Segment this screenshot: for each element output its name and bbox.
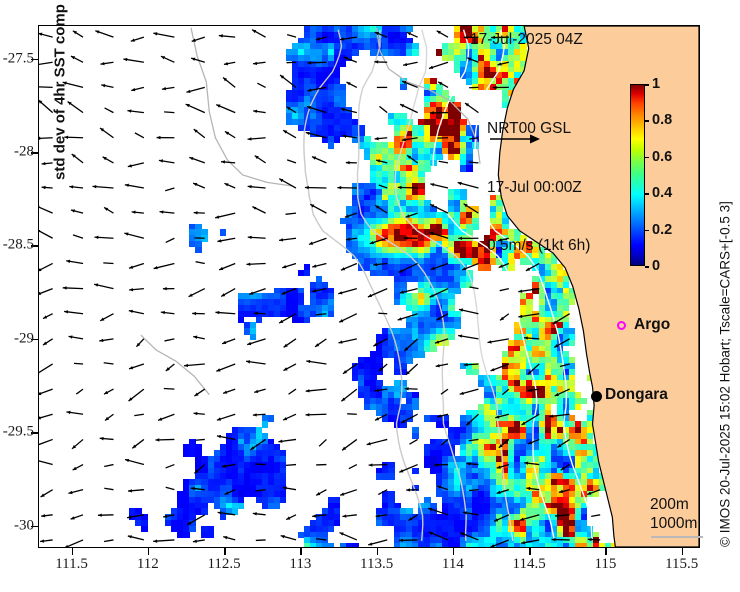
reference-arrow xyxy=(488,131,548,147)
colorbar-tickmark xyxy=(645,84,649,86)
credit-line: © IMOS 20-Jul-2025 15:02 Hobart; Tscale=… xyxy=(718,201,733,547)
x-tickmark xyxy=(453,548,455,555)
y-tick-label: -29.5 xyxy=(3,424,34,441)
x-tickmark xyxy=(377,548,379,555)
x-tick-label: 112 xyxy=(137,556,159,573)
map-plot-area xyxy=(38,25,700,548)
vector-scale-label: 0.5m/s (1kt 6h) xyxy=(487,236,590,256)
depth-1000-label: 1000m xyxy=(650,514,697,533)
colorbar-tickmark xyxy=(645,120,649,122)
colorbar-tick-label: 0.2 xyxy=(652,222,672,238)
dongara-marker-icon xyxy=(591,391,602,402)
colorbar-tick-label: 0.8 xyxy=(652,112,672,128)
colorbar-tick-label: 0.6 xyxy=(652,149,672,165)
argo-label: Argo xyxy=(634,316,670,334)
land-mass-polygon xyxy=(39,26,699,547)
model-time-label: 17-Jul 00:00Z xyxy=(487,178,590,198)
colorbar-gradient xyxy=(630,84,645,266)
colorbar-title: std dev of 4hr SST comp xyxy=(52,4,69,180)
x-tickmark xyxy=(148,548,150,555)
x-tickmark xyxy=(605,548,607,555)
colorbar-tick-label: 0 xyxy=(652,258,660,274)
datestamp-label: 17-Jul-2025 04Z xyxy=(470,31,583,49)
argo-marker-icon xyxy=(617,321,626,330)
y-tick-label: -30 xyxy=(14,517,34,534)
colorbar-tick-label: 0.4 xyxy=(652,185,672,201)
x-tick-label: 113.5 xyxy=(360,556,393,573)
x-tickmark xyxy=(72,548,74,555)
depth-contour-sample-line xyxy=(651,536,703,538)
x-tick-label: 114.5 xyxy=(513,556,546,573)
model-info-block: NRT00 GSL 17-Jul 00:00Z 0.5m/s (1kt 6h) xyxy=(487,80,590,275)
y-tick-label: -27.5 xyxy=(3,50,34,67)
colorbar-tickmark xyxy=(645,193,649,195)
x-tick-label: 112.5 xyxy=(207,556,240,573)
x-tick-label: 114 xyxy=(442,556,464,573)
depth-200-label: 200m xyxy=(650,495,697,514)
x-tick-label: 115.5 xyxy=(665,556,698,573)
x-tickmark xyxy=(224,548,226,555)
y-tick-label: -28 xyxy=(14,144,34,161)
colorbar-tickmark xyxy=(645,157,649,159)
colorbar-tickmark xyxy=(645,230,649,232)
dongara-label: Dongara xyxy=(605,386,668,404)
x-tickmark xyxy=(682,548,684,555)
x-tickmark xyxy=(529,548,531,555)
y-tick-label: -28.5 xyxy=(3,237,34,254)
colorbar-tickmark xyxy=(645,266,649,268)
y-tick-label: -29 xyxy=(14,330,34,347)
x-tick-label: 115 xyxy=(594,556,616,573)
colorbar-tick-label: 1 xyxy=(652,76,660,92)
x-tick-label: 113 xyxy=(289,556,311,573)
x-tickmark xyxy=(300,548,302,555)
x-tick-label: 111.5 xyxy=(55,556,88,573)
depth-contour-legend: 200m 1000m xyxy=(650,495,697,533)
